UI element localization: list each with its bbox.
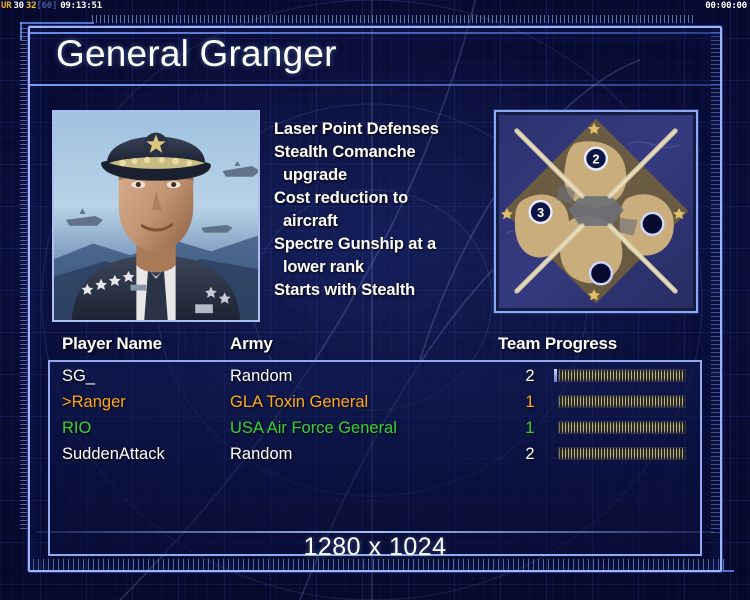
general-abilities-list: Laser Point Defenses Stealth Comanche up…	[274, 118, 496, 302]
cell-player-name: RIO	[62, 416, 91, 440]
cell-team: 2	[520, 364, 540, 388]
list-item: Starts with Stealth	[274, 279, 496, 302]
progress-bar-fill	[558, 421, 686, 434]
cell-army: USA Air Force General	[230, 416, 397, 440]
status-left-group: UR3032[60]09:13:51	[1, 0, 102, 13]
resolution-footer: 1280 x 1024	[30, 529, 720, 562]
table-row[interactable]: RIO USA Air Force General 1	[50, 416, 700, 440]
general-portrait	[52, 110, 260, 322]
ruler-top-icon	[92, 15, 694, 23]
status-value-a: 30	[11, 1, 23, 11]
column-header-army: Army	[230, 334, 273, 354]
page-title: General Granger	[56, 33, 337, 75]
list-item: upgrade	[274, 164, 496, 187]
frame-corner-bottom-right	[718, 570, 734, 572]
table-row[interactable]: SG_ Random 2	[50, 364, 700, 388]
resolution-label: 1280 x 1024	[303, 533, 446, 562]
progress-bar-cap	[554, 369, 557, 382]
list-item: Cost reduction to	[274, 187, 496, 210]
column-header-team-progress: Team Progress	[498, 334, 617, 354]
game-screen: UR3032[60]09:13:51 00:00:00 General Gran…	[0, 0, 750, 600]
status-label: UR	[1, 1, 11, 11]
status-timer: 00:00:00	[705, 0, 747, 13]
column-header-player-name: Player Name	[62, 334, 162, 354]
table-body: SG_ Random 2 >Ranger GLA Toxin General 1…	[48, 360, 702, 556]
title-rule-bottom	[30, 84, 720, 86]
list-item: Stealth Comanche	[274, 141, 496, 164]
map-preview[interactable]: 2 3	[494, 110, 698, 313]
cell-player-name: SG_	[62, 364, 95, 388]
progress-bar-fill	[558, 395, 686, 408]
list-item: Laser Point Defenses	[274, 118, 496, 141]
progress-bar-fill	[558, 447, 686, 460]
table-row[interactable]: SuddenAttack Random 2	[50, 442, 700, 466]
general-info-row: Laser Point Defenses Stealth Comanche up…	[52, 110, 698, 324]
cell-team: 1	[520, 390, 540, 414]
status-bar: UR3032[60]09:13:51 00:00:00	[0, 0, 750, 13]
list-item: Spectre Gunship at a	[274, 233, 496, 256]
progress-bar	[558, 447, 686, 460]
cell-player-name: SuddenAttack	[62, 442, 165, 466]
map-artwork: 2 3	[499, 115, 693, 308]
cell-army: GLA Toxin General	[230, 390, 368, 414]
table-header-row: Player Name Army Team Progress	[48, 334, 702, 358]
ruler-left-icon	[20, 28, 28, 530]
progress-bar	[558, 369, 686, 382]
table-row[interactable]: >Ranger GLA Toxin General 1	[50, 390, 700, 414]
frame-corner-top-left	[20, 22, 94, 24]
title-band: General Granger	[30, 32, 720, 86]
player-table: Player Name Army Team Progress SG_ Rando…	[48, 334, 702, 556]
progress-bar	[558, 421, 686, 434]
progress-bar	[558, 395, 686, 408]
cell-player-name: >Ranger	[62, 390, 126, 414]
cell-army: Random	[230, 442, 292, 466]
cell-army: Random	[230, 364, 292, 388]
progress-bar-fill	[558, 369, 686, 382]
list-item: lower rank	[274, 256, 496, 279]
svg-text:3: 3	[537, 205, 544, 220]
cell-team: 1	[520, 416, 540, 440]
status-value-b: 32	[24, 1, 36, 11]
map-preview-inner: 2 3	[499, 115, 693, 308]
cell-team: 2	[520, 442, 540, 466]
ruler-right-icon	[711, 32, 720, 536]
portrait-artwork	[54, 112, 258, 320]
list-item: aircraft	[274, 210, 496, 233]
status-value-c: [60]	[36, 1, 57, 11]
svg-text:2: 2	[592, 151, 599, 166]
status-clock: 09:13:51	[57, 1, 102, 11]
